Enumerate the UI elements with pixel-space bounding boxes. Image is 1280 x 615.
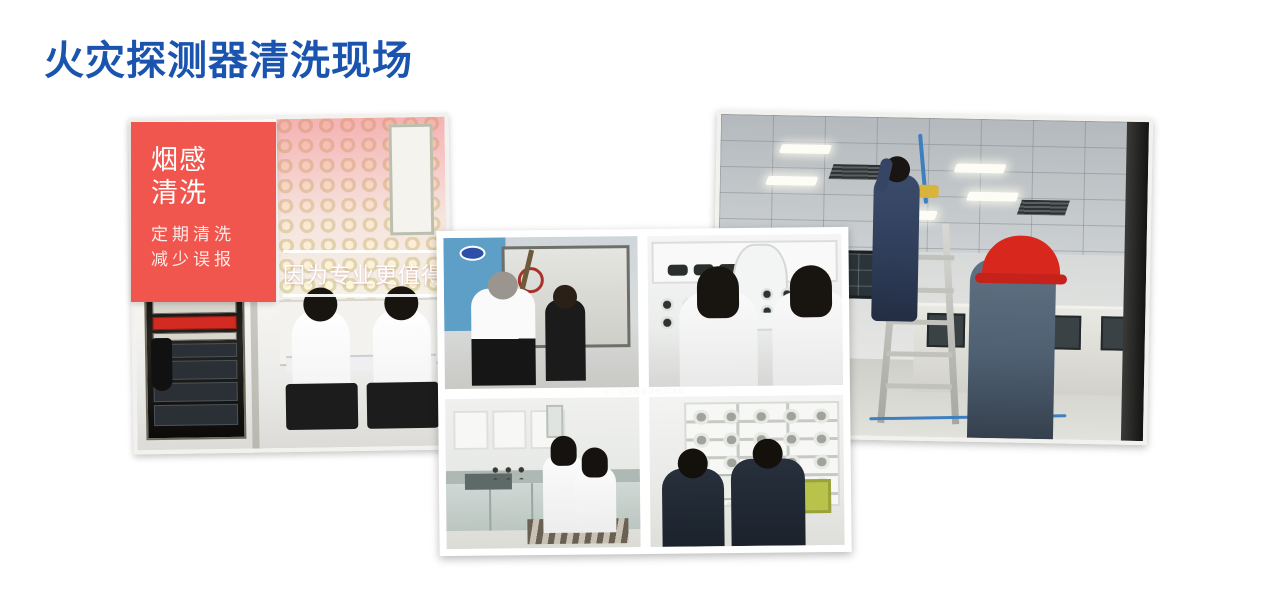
control-room-photo: [721, 114, 1149, 122]
wall-box: [546, 405, 564, 438]
ladder-step: [886, 351, 952, 357]
ceiling-vent: [829, 164, 882, 180]
photo-collage: 烟感 清洗 定期清洗 减少误报 因为专业更值得您的信赖: [0, 100, 1280, 580]
room-pillar: [1121, 122, 1149, 441]
ladder-step: [886, 383, 952, 389]
technician: [772, 291, 843, 385]
door-frame: [388, 123, 433, 236]
detector-unit: [668, 265, 688, 276]
equipment-rack: [144, 278, 246, 441]
lab-worker: [373, 308, 433, 427]
wall-panel: [453, 410, 488, 449]
grid-cell-3[interactable]: [445, 397, 641, 550]
rack-module-red: [153, 316, 238, 330]
detector-row: [488, 464, 531, 479]
badge-subtext-line2: 减少误报: [151, 247, 276, 273]
photo-panel-center[interactable]: 火灾探测器清洗检测流程: [436, 227, 851, 556]
technician: [731, 458, 806, 546]
promo-badge: 烟感 清洗 定期清洗 减少误报: [131, 122, 276, 302]
badge-headline-line1: 烟感: [151, 144, 276, 177]
person-dark-shirt: [545, 300, 586, 382]
rack-handset: [151, 337, 173, 391]
cleaning-pole-head: [916, 185, 938, 198]
ceiling-light-icon: [966, 192, 1019, 202]
lab-worker: [291, 309, 351, 428]
grid-cell-1[interactable]: [443, 236, 639, 389]
badge-subtext: 定期清洗 减少误报: [151, 222, 276, 273]
wall-panel: [492, 410, 527, 449]
ceiling-vent: [1016, 199, 1069, 215]
cabinet-seam: [489, 484, 491, 531]
badge-subtext-line1: 定期清洗: [151, 222, 276, 248]
technician: [679, 292, 758, 386]
ceiling-light-icon: [779, 144, 832, 154]
rack-module: [154, 404, 239, 426]
wall-logo-icon: [459, 245, 485, 260]
person-white-shirt: [471, 288, 536, 385]
worker-foreground: [967, 259, 1056, 439]
badge-headline-line2: 清洗: [151, 177, 276, 210]
technician: [574, 466, 617, 533]
worker-on-ladder: [871, 174, 920, 322]
page-title: 火灾探测器清洗现场: [44, 28, 413, 86]
ceiling-light-icon: [954, 163, 1007, 173]
photo-grid: 火灾探测器清洗检测流程: [443, 234, 844, 549]
ceiling-light-icon: [765, 175, 818, 185]
badge-headline: 烟感 清洗: [151, 144, 276, 210]
technician: [661, 468, 724, 547]
grid-cell-2[interactable]: [647, 234, 843, 387]
grid-cell-4[interactable]: [649, 394, 845, 547]
